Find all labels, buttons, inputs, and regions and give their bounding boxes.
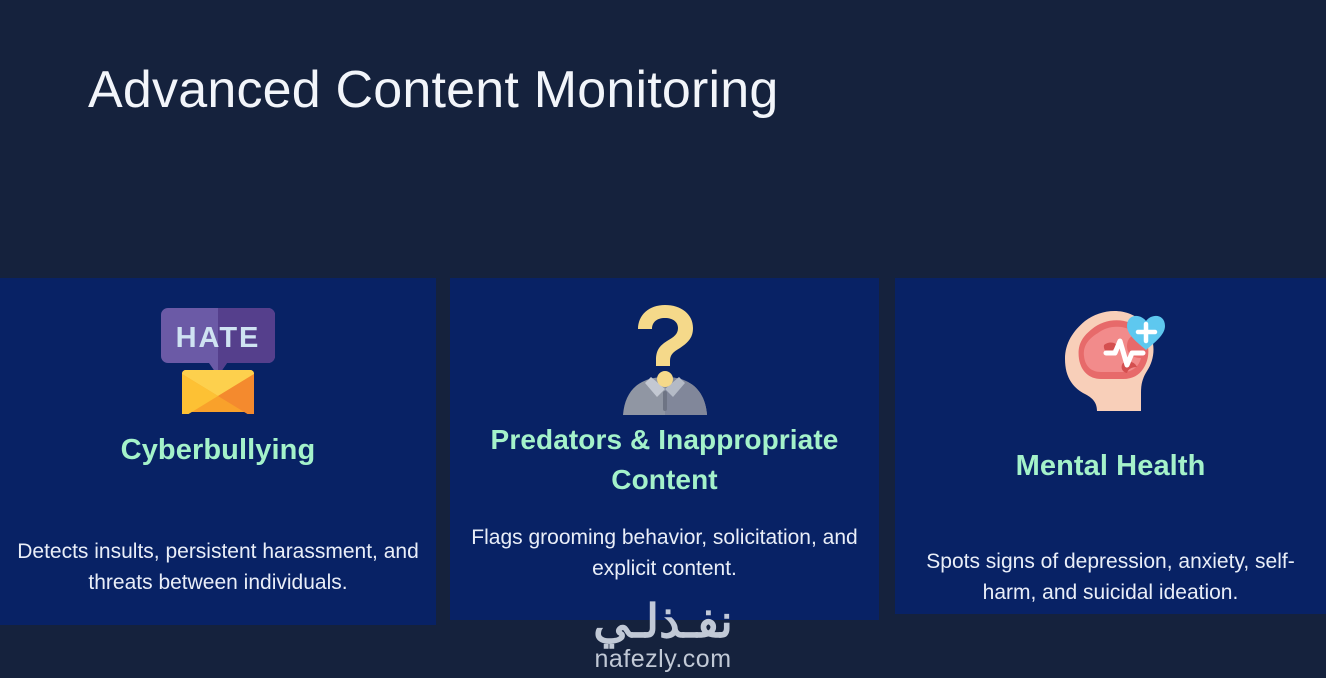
- feature-cards-row: HATE Cyberbullying Detects insults, pers…: [0, 278, 1326, 626]
- page-title: Advanced Content Monitoring: [88, 56, 779, 124]
- card-title: Predators & Inappropriate Content: [464, 420, 865, 500]
- card-title: Mental Health: [909, 446, 1312, 486]
- anonymous-person-question-mark-icon: [450, 298, 879, 420]
- card-description: Spots signs of depression, anxiety, self…: [907, 546, 1314, 608]
- page-root: Advanced Content Monitoring HATE: [0, 0, 1326, 678]
- feature-card-mental-health[interactable]: Mental Health Spots signs of depression,…: [895, 278, 1326, 614]
- svg-text:HATE: HATE: [176, 322, 261, 354]
- card-description: Flags grooming behavior, solicitation, a…: [462, 522, 867, 584]
- card-description: Detects insults, persistent harassment, …: [12, 536, 424, 598]
- watermark-domain-text: nafezly.com: [0, 644, 1326, 674]
- feature-card-cyberbullying[interactable]: HATE Cyberbullying Detects insults, pers…: [0, 278, 436, 625]
- card-title: Cyberbullying: [14, 430, 422, 470]
- feature-card-predators[interactable]: Predators & Inappropriate Content Flags …: [450, 278, 879, 620]
- brain-heart-health-icon: [895, 298, 1326, 420]
- hate-speech-message-icon: HATE: [0, 298, 436, 420]
